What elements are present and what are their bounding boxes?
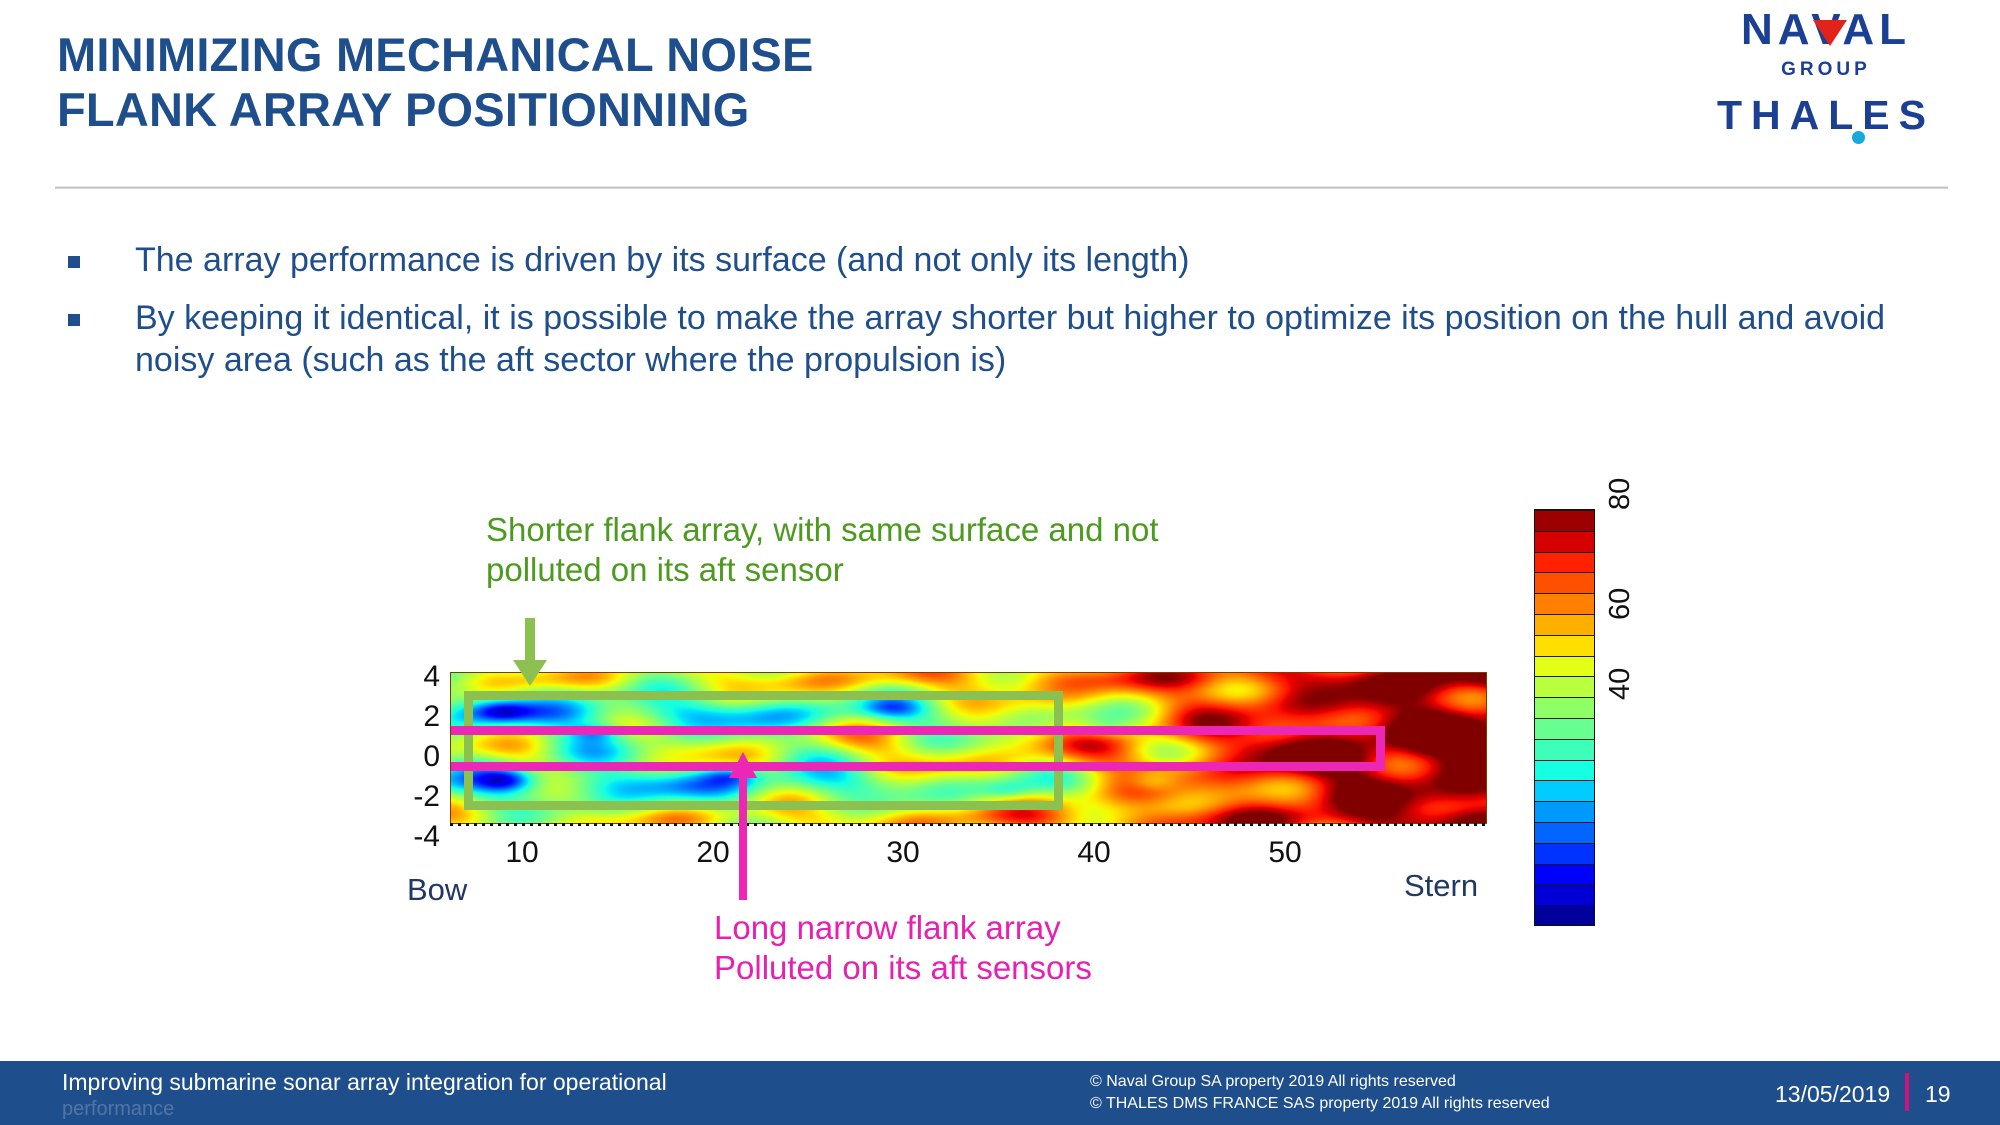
naval-red-triangle-icon xyxy=(1813,20,1847,46)
footer-page-number: 19 xyxy=(1925,1081,1951,1108)
y-tick-label: -2 xyxy=(380,780,440,814)
heatmap-canvas xyxy=(451,673,1487,824)
x-tick-label: 20 xyxy=(678,836,748,870)
copyright-line-2: © THALES DMS FRANCE SAS property 2019 Al… xyxy=(1090,1093,1550,1115)
long-array-annotation: Long narrow flank array Polluted on its … xyxy=(714,908,1334,989)
colorbar-band xyxy=(1535,739,1594,760)
colorbar-band xyxy=(1535,656,1594,677)
short-flank-array-region xyxy=(464,691,1063,810)
colorbar-tick-label: 60 xyxy=(1604,588,1637,620)
bullet-text: By keeping it identical, it is possible … xyxy=(135,298,1950,381)
footer-title-line-2: performance xyxy=(62,1097,667,1122)
colorbar-band xyxy=(1535,884,1594,905)
footer-title-line-1: Improving submarine sonar array integrat… xyxy=(62,1068,667,1097)
x-axis-ticks: 10 20 30 40 50 xyxy=(450,836,1487,876)
thales-cyan-dot-icon xyxy=(1852,131,1865,144)
y-tick-label: 0 xyxy=(380,740,440,774)
long-array-annotation-line-1: Long narrow flank array xyxy=(714,908,1334,948)
colorbar-band xyxy=(1535,697,1594,718)
footer-copyright: © Naval Group SA property 2019 All right… xyxy=(1090,1071,1550,1114)
magenta-arrow-head-icon xyxy=(729,752,757,778)
colorbar-band xyxy=(1535,760,1594,781)
footer-presentation-title: Improving submarine sonar array integrat… xyxy=(62,1068,667,1122)
colorbar-band xyxy=(1535,635,1594,656)
long-array-annotation-line-2: Polluted on its aft sensors xyxy=(714,948,1334,988)
brand-logos: NAVAL GROUP THALES xyxy=(1676,8,1976,148)
colorbar-band xyxy=(1535,822,1594,843)
x-axis-dotted-line xyxy=(450,823,1487,826)
x-tick-label: 30 xyxy=(868,836,938,870)
colorbar-band xyxy=(1535,780,1594,801)
colorbar-band xyxy=(1535,552,1594,573)
colorbar-band xyxy=(1535,531,1594,552)
bullet-list: The array performance is driven by its s… xyxy=(60,240,1950,398)
green-arrow-shaft-icon xyxy=(525,618,535,673)
magenta-arrow-shaft-icon xyxy=(739,770,747,900)
colorbar-band xyxy=(1535,510,1594,531)
colorbar-tick-label: 80 xyxy=(1604,478,1637,510)
colorbar-band xyxy=(1535,843,1594,864)
page-title-line-2: FLANK ARRAY POSITIONNING xyxy=(57,83,1307,138)
thales-logo-wordmark: THALES xyxy=(1676,95,1976,136)
x-tick-label: 40 xyxy=(1059,836,1129,870)
naval-logo-subtitle: GROUP xyxy=(1676,59,1976,81)
short-array-annotation: Shorter flank array, with same surface a… xyxy=(486,510,1286,591)
footer-date: 13/05/2019 xyxy=(1775,1081,1890,1108)
title-divider xyxy=(55,186,1948,189)
x-tick-label: 50 xyxy=(1250,836,1320,870)
bullet-square-icon xyxy=(68,314,80,326)
colorbar-band xyxy=(1535,864,1594,885)
short-array-annotation-line-1: Shorter flank array, with same surface a… xyxy=(486,510,1286,550)
footer-separator xyxy=(1905,1073,1909,1111)
x-tick-label: 10 xyxy=(487,836,557,870)
colorbar-band xyxy=(1535,593,1594,614)
green-arrow-head-icon xyxy=(513,660,547,686)
page-title: MINIMIZING MECHANICAL NOISE FLANK ARRAY … xyxy=(57,28,1307,137)
colorbar-band xyxy=(1535,718,1594,739)
page-title-line-1: MINIMIZING MECHANICAL NOISE xyxy=(57,28,814,81)
bullet-text: The array performance is driven by its s… xyxy=(135,240,1189,281)
colorbar-tick-label: 40 xyxy=(1604,668,1637,700)
copyright-line-1: © Naval Group SA property 2019 All right… xyxy=(1090,1071,1550,1093)
bullet-square-icon xyxy=(68,256,80,268)
colorbar-band xyxy=(1535,676,1594,697)
bow-label: Bow xyxy=(407,872,467,908)
list-item: By keeping it identical, it is possible … xyxy=(60,298,1950,381)
colorbar-band xyxy=(1535,801,1594,822)
colorbar xyxy=(1534,509,1595,926)
y-tick-label: 2 xyxy=(380,700,440,734)
y-tick-label: -4 xyxy=(380,820,440,854)
slide-footer: Improving submarine sonar array integrat… xyxy=(0,1061,2000,1125)
heatmap-plot-area xyxy=(450,672,1487,824)
stern-label: Stern xyxy=(1404,868,1478,904)
y-axis-ticks: 4 2 0 -2 -4 xyxy=(375,660,440,840)
long-flank-array-region xyxy=(451,726,1385,771)
colorbar-band xyxy=(1535,905,1594,925)
short-array-annotation-line-2: polluted on its aft sensor xyxy=(486,550,1286,590)
list-item: The array performance is driven by its s… xyxy=(60,240,1950,281)
colorbar-band xyxy=(1535,572,1594,593)
y-tick-label: 4 xyxy=(380,660,440,694)
colorbar-band xyxy=(1535,614,1594,635)
